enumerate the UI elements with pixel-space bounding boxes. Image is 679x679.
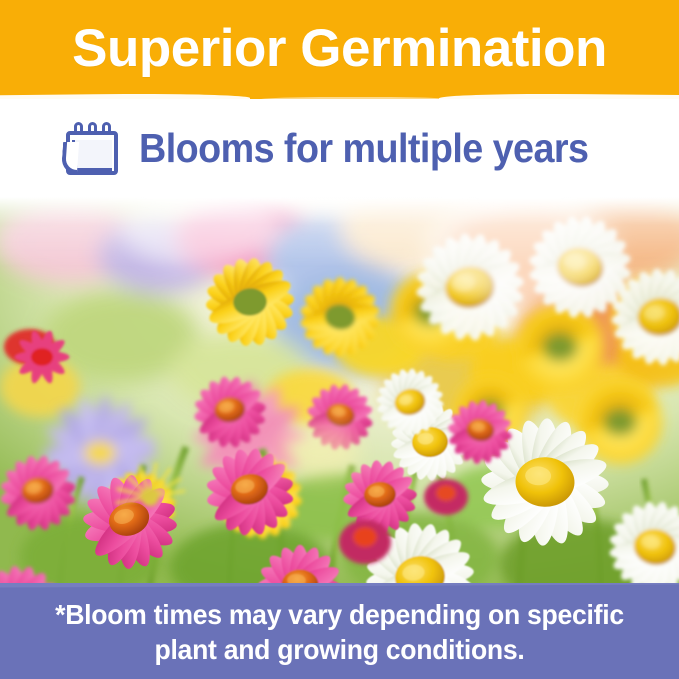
calendar-page-curl <box>61 142 79 174</box>
wildflower-illustration <box>0 197 679 586</box>
disclaimer-text: *Bloom times may vary depending on speci… <box>38 597 641 667</box>
product-feature-card: Superior Germination Blooms for multiple… <box>0 0 679 679</box>
footer-banner-edge <box>0 583 679 587</box>
calendar-icon <box>60 118 122 178</box>
page-title: Superior Germination <box>0 14 679 84</box>
disclaimer-line-1: *Bloom times may vary depending on speci… <box>55 599 624 630</box>
subheadline-text: Blooms for multiple years <box>139 128 588 169</box>
disclaimer-line-2: plant and growing conditions. <box>154 634 524 665</box>
wildflower-photo <box>0 197 679 586</box>
footer-banner: *Bloom times may vary depending on speci… <box>0 583 679 679</box>
header-banner: Superior Germination <box>0 0 679 99</box>
subheadline-row: Blooms for multiple years <box>0 99 679 198</box>
